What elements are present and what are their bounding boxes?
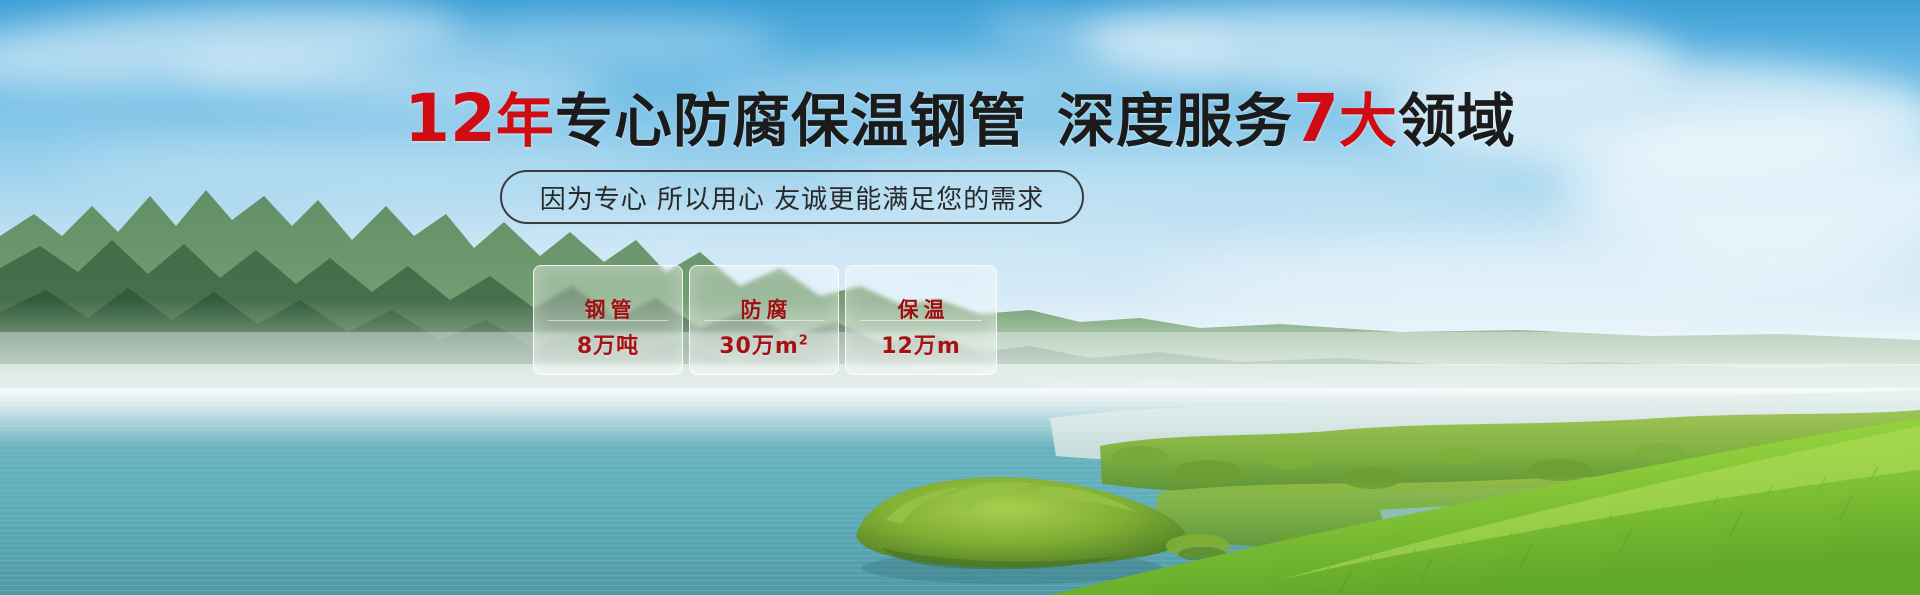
stat-card-anticorrosion[interactable]: 防腐 30万m2: [689, 265, 839, 375]
stat-card-title: 防腐: [736, 294, 793, 324]
stat-card-title: 钢管: [580, 294, 637, 324]
headline-service-text: 深度服务: [1057, 87, 1293, 155]
stat-card-title: 保温: [893, 294, 950, 324]
page-title: 12年专心防腐保温钢管深度服务7大领域: [0, 88, 1920, 152]
subtitle-text: 因为专心 所以用心 友诚更能满足您的需求: [540, 179, 1045, 216]
stats-card-group: 钢管 8万吨 防腐 30万m2 保温 12万m: [533, 265, 1053, 375]
stat-card-insulation[interactable]: 保温 12万m: [845, 265, 997, 375]
stat-card-value: 12万m: [881, 328, 961, 360]
stat-card-value: 30万m2: [719, 328, 809, 360]
stat-card-steel-pipe[interactable]: 钢管 8万吨: [533, 265, 683, 375]
headline-suffix-text: 领域: [1398, 87, 1516, 155]
stat-value-text: 12万m: [881, 334, 961, 359]
foreground-grass: [900, 400, 1920, 595]
headline-main-text: 专心防腐保温钢管: [555, 87, 1027, 155]
headline-number-fields: 7: [1293, 80, 1339, 157]
subtitle-pill: 因为专心 所以用心 友诚更能满足您的需求: [500, 170, 1084, 224]
headline-unit-years: 年: [496, 87, 555, 155]
stat-card-value: 8万吨: [577, 328, 639, 360]
headline-number-years: 12: [404, 80, 496, 157]
stat-value-text: 8万吨: [577, 334, 639, 359]
stat-value-text: 30万m: [719, 334, 799, 359]
hero-banner: 12年专心防腐保温钢管深度服务7大领域 因为专心 所以用心 友诚更能满足您的需求…: [0, 0, 1920, 595]
headline-unit-fields: 大: [1339, 87, 1398, 155]
stat-value-superscript: 2: [799, 334, 809, 349]
